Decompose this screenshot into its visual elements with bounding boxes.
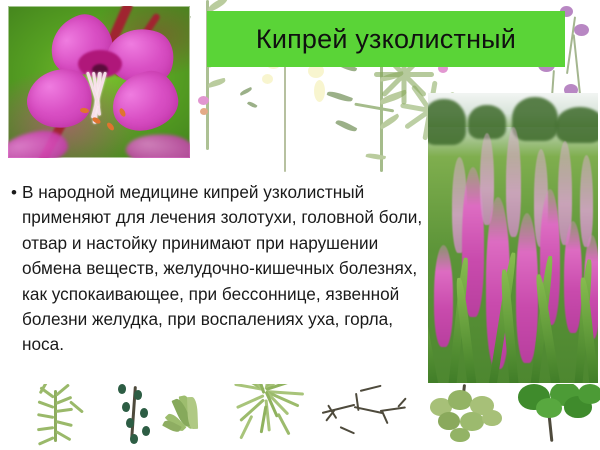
herb-sprig-yellow-bloom [256, 50, 300, 172]
bullet-marker-icon: • [6, 180, 22, 205]
herb-illustration-fern [212, 384, 322, 446]
description-paragraph: В народной медицине кипрей узколистный п… [22, 180, 424, 358]
herb-illustration-toothed-leaf [160, 384, 220, 444]
herb-illustration-leafy-sprig [424, 384, 508, 444]
herb-illustration-bare-twig [320, 386, 410, 442]
herb-illustration-round-leaf-branch [516, 384, 600, 446]
page-title: Кипрей узколистный [256, 24, 516, 55]
flower-closeup-photo [8, 6, 190, 158]
herb-illustration-berry-stem [108, 384, 164, 444]
title-banner: Кипрей узколистный [207, 11, 565, 67]
body-text-block: • В народной медицине кипрей узколистный… [6, 180, 424, 358]
fireweed-field-photo [428, 93, 598, 383]
herb-illustration-wormwood [22, 386, 92, 444]
bullet-item: • В народной медицине кипрей узколистный… [6, 180, 424, 358]
bottom-herb-strip [0, 384, 600, 450]
slide-canvas: Кипрей узколистный • В нар [0, 0, 600, 450]
